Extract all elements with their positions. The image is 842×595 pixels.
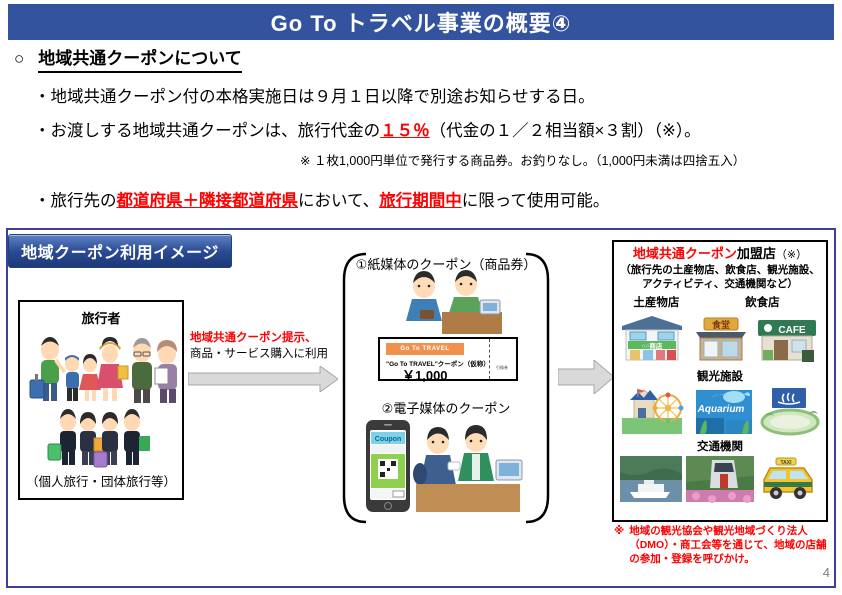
merchant-note-text: 地域の観光協会や観光地域づくり法人（DMO）・商工会等を通じて、地域の店舗の参加… <box>629 524 828 566</box>
bullet-text-3-mid: において、 <box>298 192 379 210</box>
bullet-text-3-pre: 旅行先の <box>51 192 117 210</box>
paper-coupon-illustration <box>394 270 504 336</box>
diagram-ribbon-label: 地域クーポン利用イメージ <box>8 234 232 268</box>
tourist-facilities-illustration: Aquarium <box>616 384 824 436</box>
electronic-coupon-illustration: Coupon <box>360 418 536 518</box>
usable-area-highlight: 都道府県＋隣接都道府県 <box>117 192 299 210</box>
coupon-amount: ￥1,000 <box>402 365 448 384</box>
bullet-line-3: ・旅行先の都道府県＋隣接都道府県において、旅行期間中に限って使用可能。 <box>34 190 609 212</box>
coupon-rate-highlight: １５％ <box>380 122 430 140</box>
child-boy <box>65 355 79 401</box>
shops-illustration-row-1: ○○商店 食堂 CAFE <box>616 310 824 366</box>
coupon-stub-divider <box>489 339 490 379</box>
slide-title-bar: Go To トラベル事業の概要④ <box>8 4 834 40</box>
svg-text:食堂: 食堂 <box>711 319 730 330</box>
transportation-illustration: TAXI <box>616 454 824 504</box>
flow-arrow-2-icon <box>558 360 614 394</box>
amusement-park-icon <box>622 389 684 434</box>
section-heading-label: 地域共通クーポンについて <box>38 48 242 73</box>
svg-text:Coupon: Coupon <box>375 436 401 443</box>
coupon-stub-text: 引換券 <box>491 365 513 370</box>
merchant-category-label-0: 土産物店 <box>614 294 699 310</box>
bullet-marker-1: ・ <box>34 88 51 106</box>
coupon-types-column: ①紙媒体のクーポン（商品券） Go To TRAVEL "Go To TRAVE… <box>336 250 556 526</box>
bullet-marker-3: ・ <box>34 192 51 210</box>
coupon-logo: Go To TRAVEL <box>386 343 464 355</box>
traveler-box: 旅行者 <box>18 300 184 500</box>
bullet-marker-2: ・ <box>34 122 51 140</box>
merchant-category-label-1: 飲食店 <box>699 294 826 310</box>
svg-text:Aquarium: Aquarium <box>697 404 745 415</box>
svg-text:TAXI: TAXI <box>780 460 792 466</box>
traveler-title: 旅行者 <box>20 308 182 327</box>
diagram-ribbon-text: 地域クーポン利用イメージ <box>21 239 219 263</box>
flow-arrow-1-icon <box>188 366 338 392</box>
electronic-coupon-heading: ②電子媒体のクーポン <box>336 398 556 417</box>
restaurant-icon: 食堂 <box>696 318 746 360</box>
souvenir-shop-icon: ○○商店 <box>622 316 682 360</box>
bullet-text-2-pre: お渡しする地域共通クーポンは、旅行代金の <box>51 122 381 140</box>
adult-female <box>97 337 128 401</box>
travelers-illustration <box>20 328 182 478</box>
aquarium-icon: Aquarium <box>696 390 752 434</box>
merchant-category-label-3: 交通機関 <box>614 438 826 454</box>
usable-period-highlight: 旅行期間中 <box>379 192 462 210</box>
merchant-subtitle-line1: （旅行先の土産物店、飲食店、観光施設、 <box>614 264 826 277</box>
bullet-text-2-post: （代金の１／２相当額×３割）（※）。 <box>430 122 701 140</box>
svg-text:○○商店: ○○商店 <box>642 341 663 350</box>
merchant-subtitle-line2: アクティビティ、交通機関など） <box>614 278 826 291</box>
merchant-title-black: 加盟店 <box>737 246 776 261</box>
merchant-registration-note: ※ 地域の観光協会や観光地域づくり法人（DMO）・商工会等を通じて、地域の店舗の… <box>614 524 828 566</box>
issue-unit-note: ※ １枚1,000円単位で発行する商品券。お釣りなし。（1,000円未満は四捨五… <box>300 152 745 170</box>
flow-label-line2: 商品・サービス購入に利用 <box>190 346 328 362</box>
family-group <box>30 337 66 401</box>
page-number: 4 <box>823 565 830 580</box>
bullet-line-1: ・地域共通クーポン付の本格実施日は９月１日以降で別途お知らせする日。 <box>34 86 595 108</box>
merchant-category-label-2: 観光施設 <box>614 368 826 384</box>
student-group <box>48 409 150 467</box>
merchant-title-red: 地域共通クーポン <box>633 246 737 261</box>
svg-text:CAFE: CAFE <box>778 325 806 336</box>
circle-bullet-icon: ○ <box>14 48 24 70</box>
page-title: Go To トラベル事業の概要④ <box>271 6 572 38</box>
child-girl <box>79 354 101 401</box>
merchant-category-row-1-labels: 土産物店 飲食店 <box>614 294 826 310</box>
bullet-text-1: 地域共通クーポン付の本格実施日は９月１日以降で別途お知らせする日。 <box>51 88 595 106</box>
elderly-couple <box>132 338 177 403</box>
hot-spring-icon <box>762 388 818 434</box>
cafe-icon: CAFE <box>758 320 816 362</box>
flow-label-line1: 地域共通クーポン提示、 <box>190 330 328 346</box>
merchant-title: 地域共通クーポン加盟店（※） <box>614 246 826 263</box>
flow-label: 地域共通クーポン提示、 商品・サービス購入に利用 <box>190 330 328 362</box>
taxi-icon: TAXI <box>764 458 812 499</box>
train-photo <box>686 456 754 503</box>
merchant-title-mark: （※） <box>776 249 807 261</box>
ferry-photo <box>620 456 682 502</box>
section-heading: ○ 地域共通クーポンについて <box>14 48 242 73</box>
merchant-box: 地域共通クーポン加盟店（※） （旅行先の土産物店、飲食店、観光施設、 アクティビ… <box>612 240 828 522</box>
merchant-note-mark: ※ <box>614 524 624 566</box>
paper-coupon-ticket: Go To TRAVEL "Go To TRAVEL"クーポン（仮称） ￥1,0… <box>378 337 518 381</box>
bullet-line-2: ・お渡しする地域共通クーポンは、旅行代金の１５％（代金の１／２相当額×３割）（※… <box>34 120 701 142</box>
bullet-text-3-post: に限って使用可能。 <box>462 192 610 210</box>
traveler-caption: （個人旅行・団体旅行等） <box>20 471 182 490</box>
